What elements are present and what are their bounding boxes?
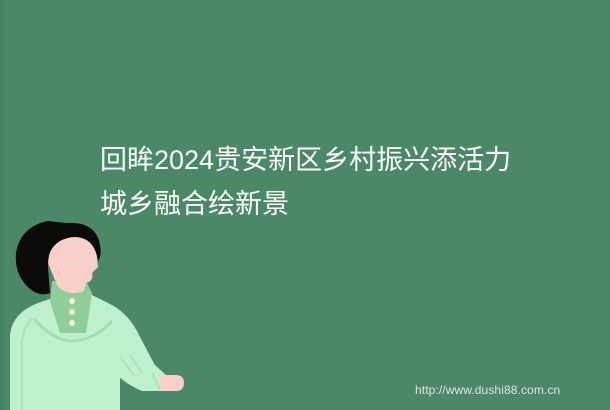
button-top xyxy=(69,298,75,304)
button-middle xyxy=(69,309,75,315)
hand xyxy=(160,375,184,391)
watermark-url: http://www.dushi88.com.cn xyxy=(415,383,560,397)
page-title: 回眸2024贵安新区乡村振兴添活力城乡融合绘新景 xyxy=(100,138,520,226)
promo-banner: 回眸2024贵安新区乡村振兴添活力城乡融合绘新景 http://www.dush… xyxy=(0,0,610,410)
button-bottom xyxy=(69,320,75,326)
person-illustration xyxy=(0,215,200,410)
